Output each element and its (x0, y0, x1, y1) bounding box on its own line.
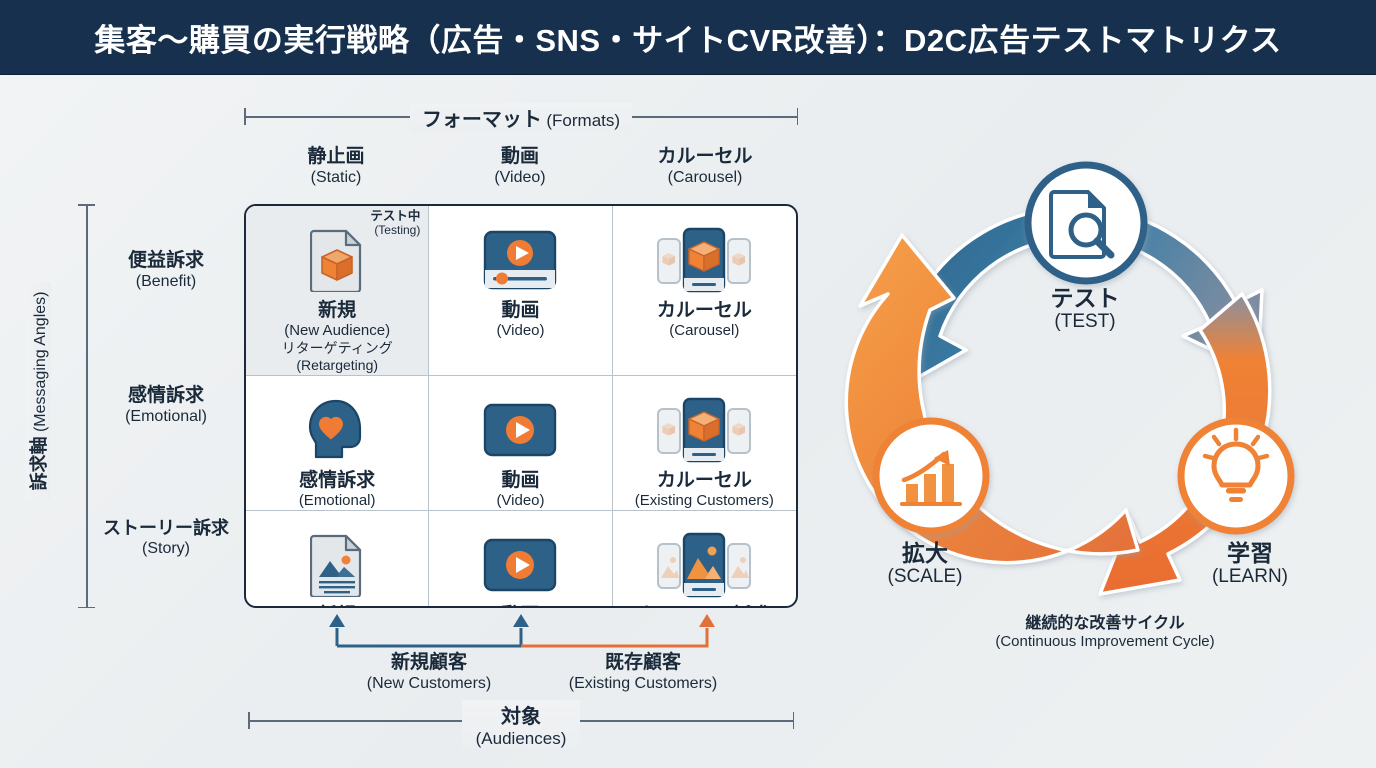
video-play-icon (483, 394, 557, 466)
row-header-en: (Story) (96, 539, 236, 558)
messaging-axis-title-en: (Messaging Angles) (32, 292, 49, 433)
cell-label-en: (Video) (496, 322, 544, 340)
cycle-label-learn: 学習 (LEARN) (1180, 540, 1320, 589)
matrix-cell-benefit-video[interactable]: 動画 (Video) (429, 206, 612, 376)
cell-caption: 動画 (Video) (496, 470, 544, 510)
cell-caption: 新規 (New Audience) リターゲティング (Retargeting) (246, 300, 428, 375)
row-header-emotional: 感情訴求 (Emotional) (96, 385, 236, 426)
format-axis-title-en: (Formats) (546, 111, 620, 130)
cycle-label-en: (TEST) (1010, 311, 1160, 334)
column-header-en: (Video) (428, 168, 612, 187)
cycle-caption-jp: 継続的な改善サイクル (930, 615, 1280, 633)
column-header-carousel: カルーセル (Carousel) (613, 146, 797, 187)
cycle-label-en: (SCALE) (855, 566, 995, 589)
cycle-caption: 継続的な改善サイクル (Continuous Improvement Cycle… (930, 615, 1280, 651)
column-header-static: 静止画 (Static) (244, 146, 428, 187)
cycle-label-test: テスト (TEST) (1010, 285, 1160, 334)
cell-caption: カルーセル (Existing Customers) (635, 470, 774, 510)
column-header-jp: カルーセル (613, 146, 797, 168)
matrix-cell-emotional-video[interactable]: 動画 (Video) (429, 376, 612, 511)
matrix-cell-emotional-static[interactable]: 感情訴求 (Emotional) (246, 376, 429, 511)
document-box-icon (310, 224, 364, 296)
cell-label-en: (Video) (496, 492, 544, 510)
audience-segment-jp: 既存顧客 (513, 652, 773, 674)
cell-label-en: (Carousel) (657, 322, 752, 340)
matrix-cell-story-carousel[interactable]: カルーセル訴求 (Retargeting) (613, 511, 796, 608)
messaging-axis-bracket (78, 204, 94, 608)
cycle-label-jp: テスト (1010, 285, 1160, 311)
column-header-jp: 静止画 (244, 146, 428, 168)
matrix-cell-story-video[interactable]: 動画 (Video) (429, 511, 612, 608)
cell-label-jp: 新規 (284, 605, 390, 608)
video-play-icon (483, 224, 557, 296)
cell-caption: カルーセル訴求 (Retargeting) (638, 605, 771, 608)
messaging-axis-title: 訴求軸 (Messaging Angles) (25, 241, 51, 541)
cell-caption: 感情訴求 (Emotional) (299, 470, 376, 510)
cycle-node-scale (876, 421, 986, 531)
page-title: 集客〜購買の実行戦略（広告・SNS・サイトCVR改善）：D2C広告テストマトリク… (94, 15, 1281, 60)
cell-label-en2: リターゲティング (Retargeting) (246, 340, 428, 375)
messaging-axis-title-jp: 訴求軸 (29, 436, 49, 490)
column-header-video: 動画 (Video) (428, 146, 612, 187)
cell-caption: 新規 (New Audience) (284, 605, 390, 608)
matrix-cell-benefit-static[interactable]: テスト中 (Testing) 新規 (New Audience) リターゲティ (246, 206, 429, 376)
test-matrix: テスト中 (Testing) 新規 (New Audience) リターゲティ (244, 204, 798, 608)
slide-title-bar: 集客〜購買の実行戦略（広告・SNS・サイトCVR改善）：D2C広告テストマトリク… (0, 0, 1376, 74)
row-header-en: (Benefit) (96, 272, 236, 291)
row-header-benefit: 便益訴求 (Benefit) (96, 250, 236, 291)
row-header-en: (Emotional) (96, 407, 236, 426)
row-header-jp: 便益訴求 (96, 250, 236, 272)
column-header-en: (Carousel) (613, 168, 797, 187)
cell-label-jp: カルーセル (657, 300, 752, 322)
document-image-icon (310, 529, 364, 601)
cycle-label-en: (LEARN) (1180, 566, 1320, 589)
cell-label-jp: 新規 (246, 300, 428, 322)
carousel-box-icon (656, 394, 752, 466)
audience-axis-title-en: (Audiences) (476, 729, 567, 749)
audience-segment-en: (Existing Customers) (513, 674, 773, 693)
carousel-box-icon (656, 224, 752, 296)
cell-label-jp: カルーセル (635, 470, 774, 492)
cell-caption: カルーセル (Carousel) (657, 300, 752, 340)
matrix-cell-benefit-carousel[interactable]: カルーセル (Carousel) (613, 206, 796, 376)
cell-label-en: (New Audience) (246, 322, 428, 340)
cycle-label-jp: 学習 (1180, 540, 1320, 566)
cycle-label-jp: 拡大 (855, 540, 995, 566)
cycle-caption-en: (Continuous Improvement Cycle) (930, 633, 1280, 651)
matrix-cell-emotional-carousel[interactable]: カルーセル (Existing Customers) (613, 376, 796, 511)
audience-segment-existing: 既存顧客 (Existing Customers) (513, 652, 773, 693)
row-header-story: ストーリー訴求 (Story) (96, 518, 236, 558)
row-header-jp: ストーリー訴求 (96, 518, 236, 539)
cycle-node-learn (1181, 421, 1291, 531)
cycle-label-scale: 拡大 (SCALE) (855, 540, 995, 589)
matrix-cell-story-static[interactable]: 新規 (New Audience) (246, 511, 429, 608)
cell-label-en: (Existing Customers) (635, 492, 774, 510)
cell-label-jp: 感情訴求 (299, 470, 376, 492)
badge-label-en: (Testing) (370, 224, 420, 237)
bracket-cap-top (78, 204, 95, 206)
slide-canvas: 集客〜購買の実行戦略（広告・SNS・サイトCVR改善）：D2C広告テストマトリク… (0, 0, 1376, 768)
head-heart-icon (304, 394, 370, 466)
cell-caption: 動画 (Video) (496, 300, 544, 340)
carousel-image-icon (656, 529, 752, 601)
cell-label-jp: 動画 (496, 300, 544, 322)
bracket-line (86, 204, 88, 608)
column-header-en: (Static) (244, 168, 428, 187)
audience-arrow-group (244, 612, 798, 652)
cell-label-jp: カルーセル訴求 (638, 605, 771, 608)
cell-caption: 動画 (Video) (496, 605, 544, 608)
cell-label-en: (Emotional) (299, 492, 376, 510)
audience-axis-title: 対象 (Audiences) (248, 700, 794, 749)
format-axis-title: フォーマット (Formats) (244, 103, 798, 132)
cell-label-jp: 動画 (496, 605, 544, 608)
column-header-jp: 動画 (428, 146, 612, 168)
cycle-node-test (1028, 165, 1144, 281)
badge-label-jp: テスト中 (370, 210, 420, 224)
row-header-jp: 感情訴求 (96, 385, 236, 407)
video-play-icon (483, 529, 557, 601)
testing-status-badge: テスト中 (Testing) (370, 210, 420, 237)
format-axis-title-jp: フォーマット (422, 109, 542, 131)
bracket-cap-bottom (78, 607, 95, 609)
cell-label-jp: 動画 (496, 470, 544, 492)
audience-axis-title-jp: 対象 (501, 706, 541, 728)
